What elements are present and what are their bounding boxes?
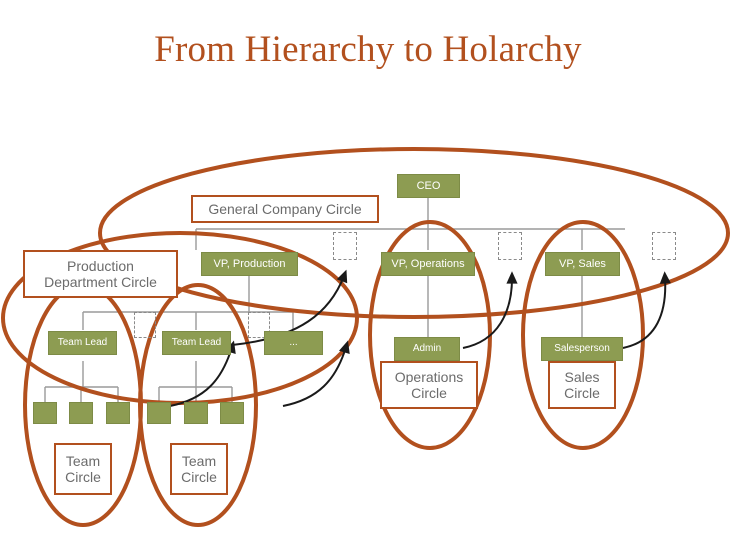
label-general-company-circle[interactable]: General Company Circle xyxy=(191,195,379,223)
arrow-team-lead-1-to-placeholder xyxy=(170,347,232,406)
leaf-role-1a[interactable] xyxy=(33,402,57,424)
leaf-role-2c[interactable] xyxy=(220,402,244,424)
leaf-role-1b[interactable] xyxy=(69,402,93,424)
label-team-circle-2[interactable]: Team Circle xyxy=(170,443,228,495)
leaf-role-1c[interactable] xyxy=(106,402,130,424)
label-operations-circle[interactable]: Operations Circle xyxy=(380,361,478,409)
role-salesperson[interactable]: Salesperson xyxy=(541,337,623,361)
role-ceo[interactable]: CEO xyxy=(397,174,460,198)
slide-canvas: From Hierarchy to Holarchy xyxy=(0,0,736,536)
role-admin[interactable]: Admin xyxy=(394,337,460,361)
placeholder-production[interactable] xyxy=(333,232,357,260)
label-sales-circle[interactable]: Sales Circle xyxy=(548,361,616,409)
placeholder-operations[interactable] xyxy=(498,232,522,260)
label-team-circle-1[interactable]: Team Circle xyxy=(54,443,112,495)
leaf-role-2a[interactable] xyxy=(147,402,171,424)
role-vp-sales[interactable]: VP, Sales xyxy=(545,252,620,276)
role-team-lead-2[interactable]: Team Lead xyxy=(162,331,231,355)
role-vp-production[interactable]: VP, Production xyxy=(201,252,298,276)
role-vp-operations[interactable]: VP, Operations xyxy=(381,252,475,276)
role-team-lead-1[interactable]: Team Lead xyxy=(48,331,117,355)
placeholder-sales[interactable] xyxy=(652,232,676,260)
leaf-role-2b[interactable] xyxy=(184,402,208,424)
role-more-roles[interactable]: ... xyxy=(264,331,323,355)
label-production-department-circle[interactable]: Production Department Circle xyxy=(23,250,178,298)
placeholder-team-1[interactable] xyxy=(134,312,156,338)
